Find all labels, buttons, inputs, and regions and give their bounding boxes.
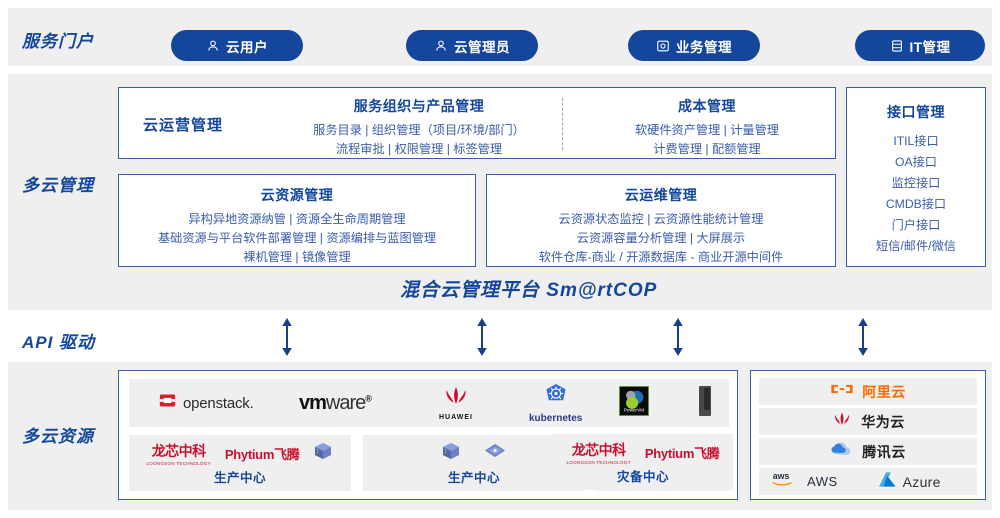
aws-icon: aws — [771, 470, 801, 493]
service-portal-band: 服务门户 云用户 云管理员 业务管理 IT管理 — [8, 8, 992, 66]
user-icon — [206, 39, 220, 53]
cloud-operation-mgmt-title: 云运营管理 — [143, 114, 223, 135]
openstack-icon — [159, 392, 176, 414]
user-icon — [434, 39, 448, 53]
public-cloud-label: 华为云 — [861, 412, 905, 432]
vendor-label: vmware® — [299, 392, 371, 414]
cost-mgmt-line-2: 计费管理 | 配额管理 — [587, 140, 827, 159]
vendor-kubernetes: kubernetes — [529, 383, 582, 424]
vendor-openstack: openstack. — [159, 392, 254, 414]
public-cloud-label: 阿里云 — [862, 382, 906, 402]
api-management-title: 接口管理 — [847, 102, 985, 122]
platform-title: 混合云管理平台 Sm@rtCOP — [400, 275, 657, 302]
svg-text:aws: aws — [773, 471, 790, 481]
cloud-ops-line-2: 云资源容量分析管理 | 大屏展示 — [487, 229, 835, 248]
vendor-label: HUAWEI — [439, 414, 473, 421]
huawei-icon — [441, 395, 471, 412]
vendor-label: kubernetes — [529, 413, 582, 424]
api-item-cmdb: CMDB接口 — [847, 194, 985, 215]
vendor-huawei: HUAWEI — [439, 385, 473, 421]
pill-it-mgmt[interactable]: IT管理 — [855, 30, 985, 61]
cloud-ops-line-1: 云资源状态监控 | 云资源性能统计管理 — [487, 210, 835, 229]
public-cloud-aws[interactable]: aws AWS — [771, 470, 838, 493]
pill-label: 业务管理 — [676, 36, 732, 56]
disk-icon — [483, 441, 507, 466]
brand-sublabel: LOONGSON TECHNOLOGY — [147, 461, 211, 466]
api-driven-band: API 驱动 — [8, 316, 992, 356]
vertical-divider — [562, 98, 563, 150]
datacenter-name: 灾备中心 — [617, 466, 669, 485]
svg-text:PowerVM: PowerVM — [624, 407, 644, 412]
brand-phytium: Phytium飞腾 — [645, 443, 720, 462]
public-cloud-huawei[interactable]: 华为云 — [759, 408, 977, 435]
aliyun-icon — [830, 381, 854, 402]
service-org-line-1: 服务目录 | 组织管理（项目/环境/部门） — [274, 121, 564, 140]
public-cloud-label: Azure — [903, 474, 941, 490]
datacenter-name: 生产中心 — [448, 467, 500, 486]
brand-label: 龙芯中科 — [567, 440, 631, 460]
public-cloud-tencent[interactable]: 腾讯云 — [759, 438, 977, 465]
bidirectional-arrow-2 — [474, 318, 490, 356]
brand-loongson: 龙芯中科 LOONGSON TECHNOLOGY — [147, 441, 211, 466]
datacenter-brands: 龙芯中科 LOONGSON TECHNOLOGY Phytium飞腾 — [147, 441, 334, 466]
brand-loongson: 龙芯中科 LOONGSON TECHNOLOGY — [567, 440, 631, 465]
powervm-icon: PowerVM — [619, 403, 649, 420]
datacenter-tile-3: 龙芯中科 LOONGSON TECHNOLOGY Phytium飞腾 灾备中心 — [553, 434, 733, 490]
pill-cloud-admin[interactable]: 云管理员 — [406, 30, 538, 61]
kubernetes-icon — [544, 394, 568, 411]
api-driven-label: API 驱动 — [22, 328, 95, 353]
bidirectional-arrow-4 — [855, 318, 871, 356]
public-cloud-panel: 阿里云 华为云 腾 — [750, 370, 986, 500]
public-cloud-azure[interactable]: Azure — [878, 471, 941, 493]
cost-mgmt-line-1: 软硬件资产管理 | 计量管理 — [587, 121, 827, 140]
api-management-box: 接口管理 ITIL接口 OA接口 监控接口 CMDB接口 门户接口 短信/邮件/… — [846, 87, 986, 267]
vendor-logo-row: openstack. vmware® HUAWEI — [129, 379, 729, 427]
vendor-powervm: PowerVM — [619, 386, 649, 421]
datacenter-tile-2: 生产中心 — [363, 435, 585, 491]
cloud-ops-line-3: 软件仓库-商业 / 开源数据库 - 商业开源中间件 — [487, 248, 835, 267]
pill-label: IT管理 — [910, 36, 951, 56]
brand-label: 龙芯中科 — [147, 441, 211, 461]
service-org-line-2: 流程审批 | 权限管理 | 标签管理 — [274, 140, 564, 159]
tencentcloud-icon — [830, 441, 854, 463]
cloud-resource-mgmt-box: 云资源管理 异构异地资源纳管 | 资源全生命周期管理 基础资源与平台软件部署管理… — [118, 174, 476, 267]
bidirectional-arrow-3 — [670, 318, 686, 356]
cost-mgmt-title: 成本管理 — [587, 96, 827, 116]
multicloud-resources-band: 多云资源 openstack. vmware® — [8, 362, 992, 510]
pill-cloud-user[interactable]: 云用户 — [171, 30, 303, 61]
public-cloud-label: 腾讯云 — [862, 442, 906, 462]
multicloud-management-band: 多云管理 云运营管理 服务组织与产品管理 服务目录 | 组织管理（项目/环境/部… — [8, 74, 992, 310]
server-icon — [890, 39, 904, 53]
cloud-resource-line-1: 异构异地资源纳管 | 资源全生命周期管理 — [119, 210, 475, 229]
cloud-resource-line-3: 裸机管理 | 镜像管理 — [119, 248, 475, 267]
vendor-label: openstack. — [183, 395, 254, 412]
pill-label: 云用户 — [226, 36, 268, 56]
pill-business-mgmt[interactable]: 业务管理 — [628, 30, 760, 61]
multicloud-management-label: 多云管理 — [22, 171, 94, 196]
diagram-root: 服务门户 云用户 云管理员 业务管理 IT管理 多云 — [0, 0, 1000, 518]
server-rack-icon — [697, 404, 713, 421]
cloud-operation-mgmt-box: 云运营管理 服务组织与产品管理 服务目录 | 组织管理（项目/环境/部门） 流程… — [118, 87, 836, 159]
vendor-server-rack — [697, 385, 713, 422]
datacenter-name: 生产中心 — [214, 467, 266, 486]
cloud-resource-line-2: 基础资源与平台软件部署管理 | 资源编排与蓝图管理 — [119, 229, 475, 248]
azure-icon — [878, 471, 897, 493]
cube-icon — [441, 441, 461, 466]
service-portal-label: 服务门户 — [22, 27, 94, 52]
service-org-title: 服务组织与产品管理 — [274, 96, 564, 116]
brand-sublabel: LOONGSON TECHNOLOGY — [567, 460, 631, 465]
cube-icon — [313, 441, 333, 466]
pill-label: 云管理员 — [454, 36, 510, 56]
cloud-ops-mgmt-box: 云运维管理 云资源状态监控 | 云资源性能统计管理 云资源容量分析管理 | 大屏… — [486, 174, 836, 267]
public-cloud-aliyun[interactable]: 阿里云 — [759, 378, 977, 405]
public-cloud-aws-azure-row: aws AWS Azure — [759, 468, 977, 495]
api-item-message: 短信/邮件/微信 — [847, 236, 985, 257]
monitor-icon — [656, 39, 670, 53]
cloud-ops-mgmt-title: 云运维管理 — [487, 185, 835, 205]
datacenter-icons — [441, 441, 507, 466]
public-cloud-label: AWS — [807, 474, 838, 489]
api-item-itil: ITIL接口 — [847, 131, 985, 152]
brand-phytium: Phytium飞腾 — [225, 444, 300, 463]
datacenter-tile-1: 龙芯中科 LOONGSON TECHNOLOGY Phytium飞腾 生产中心 — [129, 435, 351, 491]
cloud-resource-mgmt-title: 云资源管理 — [119, 185, 475, 205]
api-item-oa: OA接口 — [847, 152, 985, 173]
api-item-portal: 门户接口 — [847, 215, 985, 236]
bidirectional-arrow-1 — [279, 318, 295, 356]
datacenter-brands: 龙芯中科 LOONGSON TECHNOLOGY Phytium飞腾 — [567, 440, 720, 465]
vendor-vmware: vmware® — [299, 392, 371, 415]
api-item-monitor: 监控接口 — [847, 173, 985, 194]
huaweicloud-icon — [831, 411, 853, 433]
multicloud-resources-label: 多云资源 — [22, 422, 94, 447]
